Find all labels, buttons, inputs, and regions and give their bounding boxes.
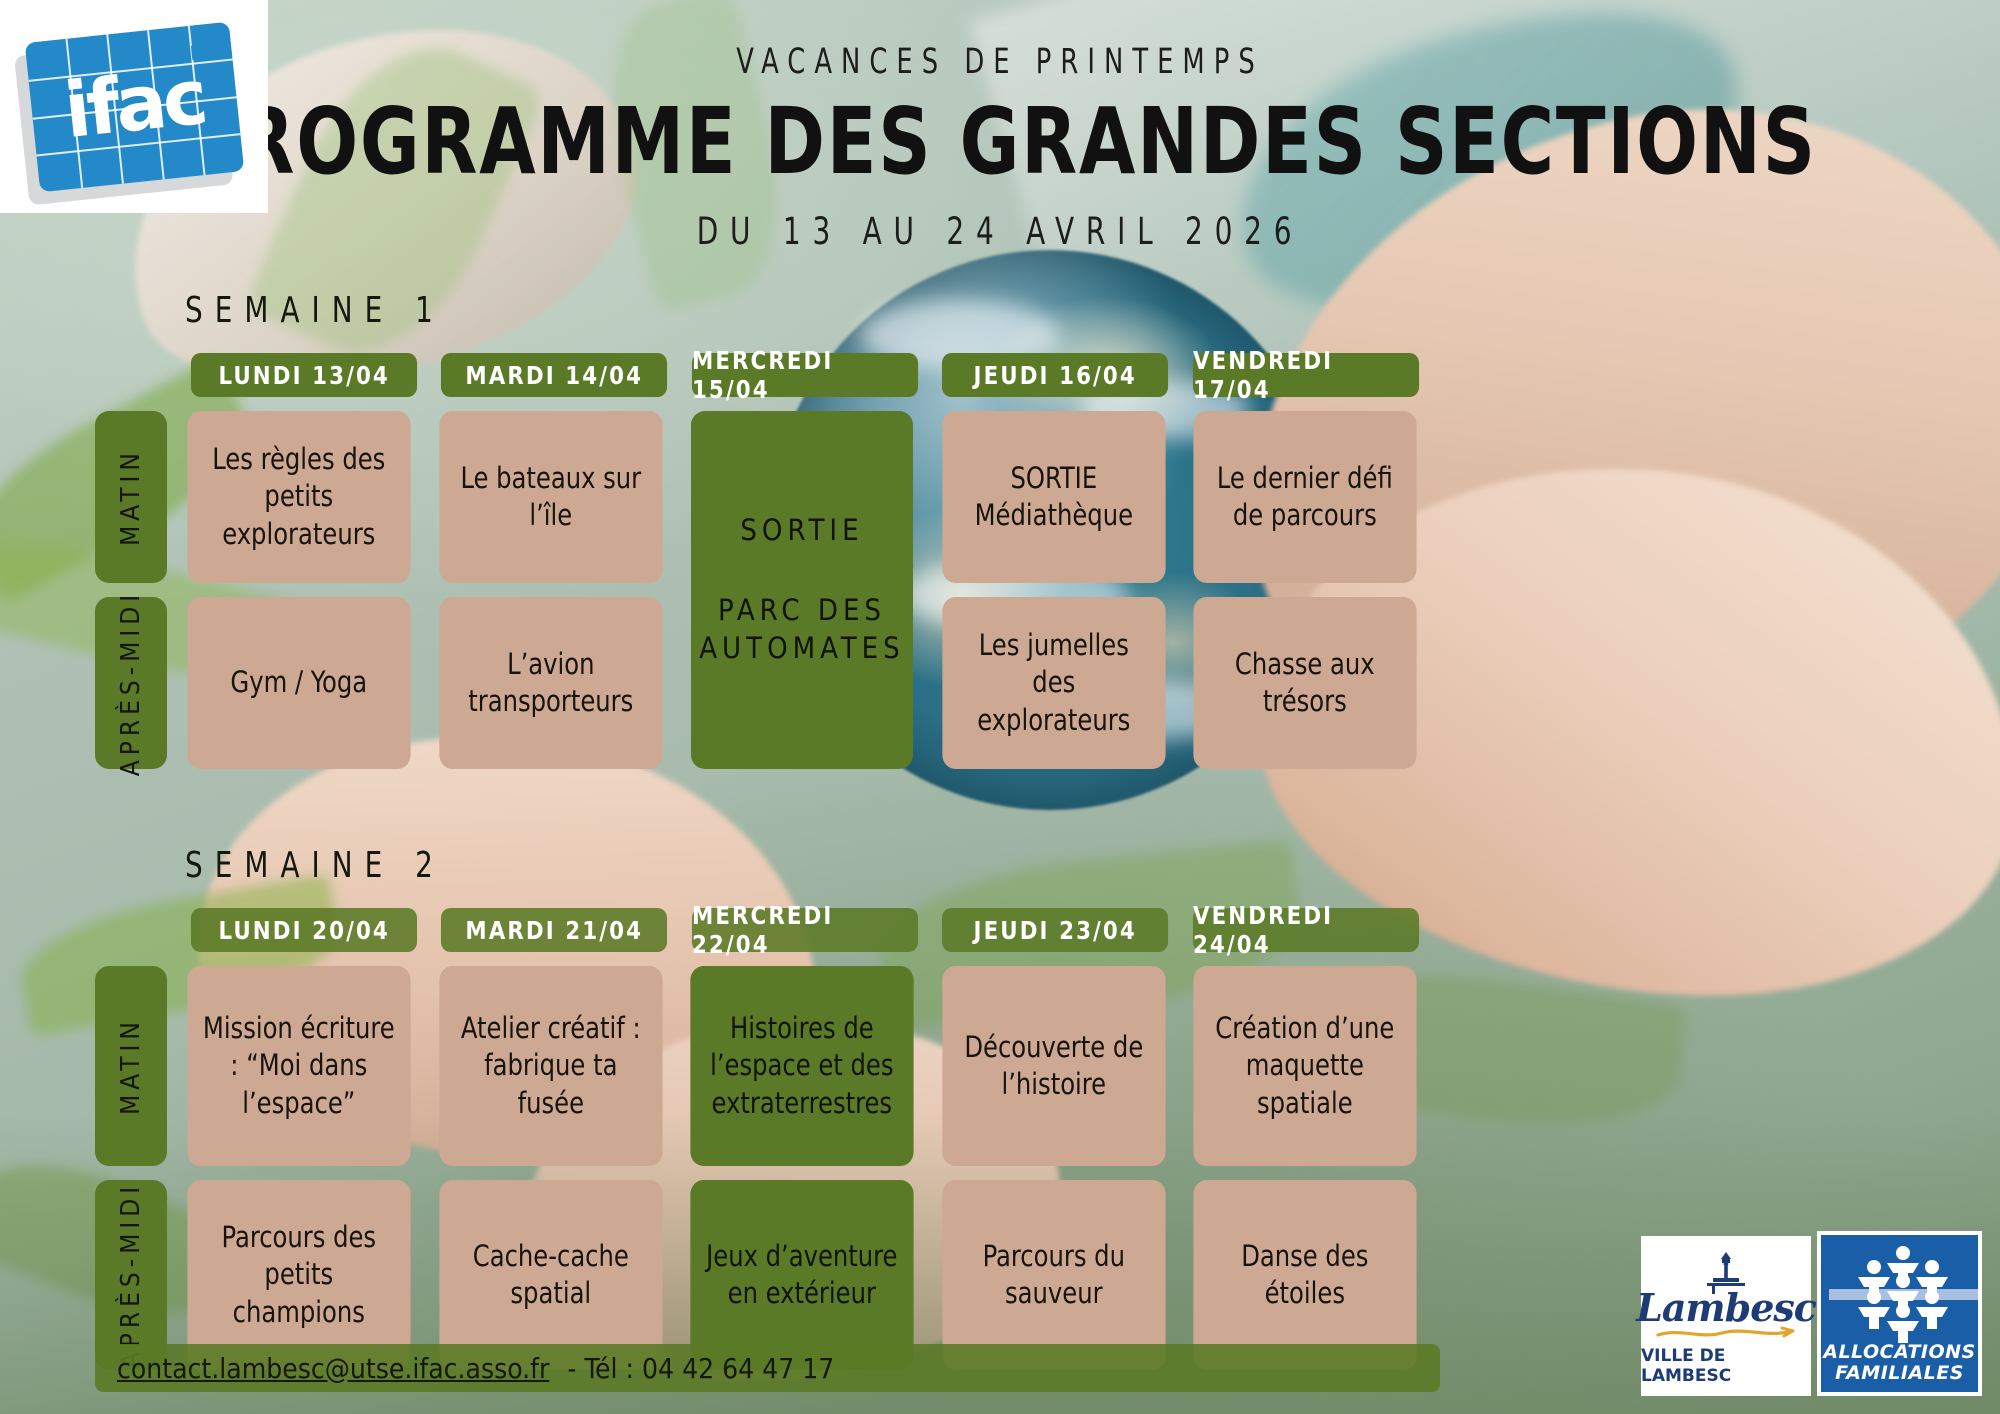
ifac-logo-plate: ifac <box>24 21 244 192</box>
lambesc-logo: Lambesc VILLE DE LAMBESC <box>1641 1236 1811 1396</box>
day-header-mardi: MARDI 14/04 <box>441 353 667 397</box>
header-dates: DU 13 AU 24 AVRIL 2026 <box>160 210 1840 253</box>
activity-cell: Parcours des petits champions <box>187 1180 410 1370</box>
activity-cell: Le bateaux sur l’île <box>439 411 662 583</box>
day-header-mercredi: MERCREDI 15/04 <box>692 353 918 397</box>
week-2-apresmidi-row: APRÈS-MIDI Parcours des petits champions… <box>95 1180 1425 1370</box>
sortie-label: SORTIE <box>740 512 863 550</box>
caf-line-1: ALLOCATIONS <box>1823 1342 1976 1363</box>
ifac-logo-notch <box>190 43 217 60</box>
row-label-matin-text: MATIN <box>116 448 146 546</box>
caf-line-2: FAMILIALES <box>1823 1363 1976 1384</box>
day-header-jeudi: JEUDI 16/04 <box>942 353 1168 397</box>
family-figures-icon <box>1821 1241 1986 1353</box>
activity-cell: Danse des étoiles <box>1194 1180 1417 1370</box>
caf-logo: ALLOCATIONS FAMILIALES <box>1817 1231 1982 1396</box>
activity-cell: Cache-cache spatial <box>439 1180 662 1370</box>
header-kicker: VACANCES DE PRINTEMPS <box>180 42 1820 82</box>
week-2-label: SEMAINE 2 <box>185 845 1746 886</box>
row-label-apres-midi: APRÈS-MIDI <box>95 1180 167 1370</box>
activity-cell: Parcours du sauveur <box>942 1180 1165 1370</box>
activity-cell: L’avion transporteurs <box>439 597 662 769</box>
activity-cell: Histoires de l’espace et des extraterres… <box>691 966 914 1166</box>
contact-bar: contact.lambesc@utse.ifac.asso.fr - Tél … <box>95 1344 1440 1392</box>
contact-email[interactable]: contact.lambesc@utse.ifac.asso.fr <box>117 1352 549 1385</box>
page-title: PROGRAMME DES GRANDES SECTIONS <box>120 96 1880 188</box>
activity-cell: Découverte de l’histoire <box>942 966 1165 1166</box>
caf-wordmark: ALLOCATIONS FAMILIALES <box>1823 1342 1976 1384</box>
day-header-vendredi: VENDREDI 17/04 <box>1193 353 1419 397</box>
activity-cell: Jeux d’aventure en extérieur <box>691 1180 914 1370</box>
activity-cell: Les jumelles des explorateurs <box>942 597 1165 769</box>
activity-cell: Gym / Yoga <box>187 597 410 769</box>
poster-header: VACANCES DE PRINTEMPS PROGRAMME DES GRAN… <box>0 0 2000 253</box>
activity-cell: Atelier créatif : fabrique ta fusée <box>439 966 662 1166</box>
day-header-mardi: MARDI 21/04 <box>441 908 667 952</box>
row-label-apres-midi-text: APRÈS-MIDI <box>116 590 146 776</box>
row-label-apres-midi: APRÈS-MIDI <box>95 597 167 769</box>
activity-cell: Les règles des petits explorateurs <box>187 411 410 583</box>
sortie-destination: PARC DES AUTOMATES <box>699 592 905 667</box>
row-label-apres-midi-text: APRÈS-MIDI <box>116 1182 146 1368</box>
ifac-logo: ifac <box>0 0 268 213</box>
sortie-parc-des-automates-cell: SORTIE PARC DES AUTOMATES <box>691 411 914 769</box>
row-label-matin: MATIN <box>95 411 167 583</box>
activity-cell: Création d’une maquette spatiale <box>1194 966 1417 1166</box>
activity-cell: Le dernier défi de parcours <box>1194 411 1417 583</box>
sortie-destination-line2: AUTOMATES <box>699 630 905 668</box>
week-1-block: SEMAINE 1 LUNDI 13/04 MARDI 14/04 MERCRE… <box>0 290 2000 769</box>
lambesc-subtitle: VILLE DE LAMBESC <box>1641 1346 1811 1386</box>
contact-phone: - Tél : 04 42 64 47 17 <box>567 1352 834 1385</box>
week-2-day-header-row: LUNDI 20/04 MARDI 21/04 MERCREDI 22/04 J… <box>185 908 1425 952</box>
activity-cell: SORTIE Médiathèque <box>942 411 1165 583</box>
day-header-mercredi: MERCREDI 22/04 <box>692 908 918 952</box>
poster-root: ifac VACANCES DE PRINTEMPS PROGRAMME DES… <box>0 0 2000 1414</box>
bell-tower-icon <box>1697 1250 1755 1296</box>
partner-logos: Lambesc VILLE DE LAMBESC <box>1641 1231 1982 1396</box>
sortie-destination-line1: PARC DES <box>699 592 905 630</box>
day-header-lundi: LUNDI 13/04 <box>191 353 417 397</box>
day-header-jeudi: JEUDI 23/04 <box>942 908 1168 952</box>
ifac-logo-tile: ifac <box>24 21 244 192</box>
row-label-matin-text: MATIN <box>116 1017 146 1115</box>
day-header-vendredi: VENDREDI 24/04 <box>1193 908 1419 952</box>
wave-icon <box>1656 1326 1796 1342</box>
activity-cell: Mission écriture : “Moi dans l’espace” <box>187 966 410 1166</box>
day-header-lundi: LUNDI 20/04 <box>191 908 417 952</box>
week-1-label: SEMAINE 1 <box>185 290 1746 331</box>
activity-cell: Chasse aux trésors <box>1194 597 1417 769</box>
week-1-day-header-row: LUNDI 13/04 MARDI 14/04 MERCREDI 15/04 J… <box>185 353 1425 397</box>
row-label-matin: MATIN <box>95 966 167 1166</box>
week-2-matin-row: MATIN Mission écriture : “Moi dans l’esp… <box>95 966 1425 1166</box>
